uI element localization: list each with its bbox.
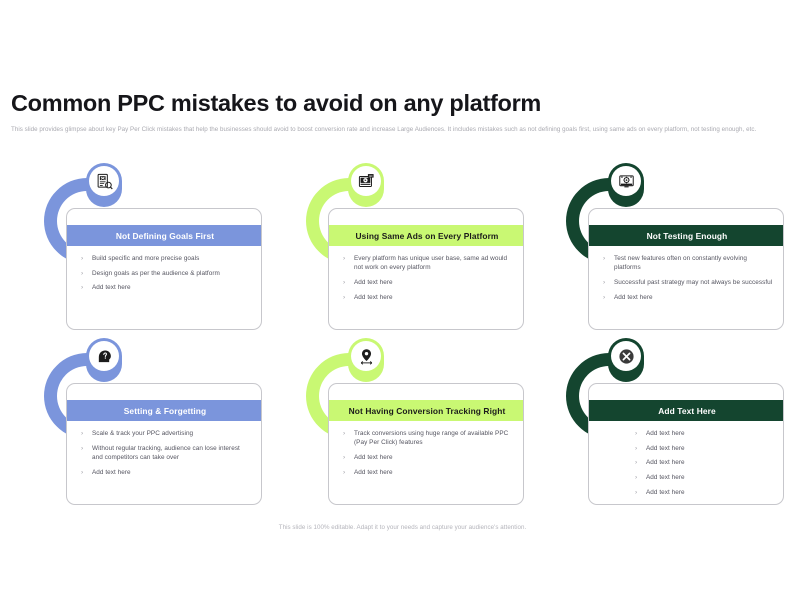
card-1: Not Defining Goals First›Build specific … [38,160,288,335]
bullet-item: ›Add text here [635,429,773,438]
card-panel[interactable]: Add Text Here›Add text here›Add text her… [588,383,784,505]
bullet-text: Add text here [354,468,513,477]
bullet-chevron-icon: › [635,429,646,438]
bullet-chevron-icon: › [343,293,354,302]
page-subtitle: This slide provides glimpse about key Pa… [11,125,794,136]
bullet-text: Design goals as per the audience & platf… [92,269,251,278]
bullet-item: ›Add text here [635,444,773,453]
cards-grid: Not Defining Goals First›Build specific … [0,160,805,510]
bullet-text: Test new features often on constantly ev… [614,254,773,272]
card-title: Setting & Forgetting [67,400,262,421]
card-bullet-list: ›Test new features often on constantly e… [589,250,784,307]
card-icon-badge [86,163,122,207]
bullet-chevron-icon: › [635,458,646,467]
bullet-item: ›Add text here [81,468,251,477]
bullet-text: Add text here [354,293,513,302]
slide-canvas: Common PPC mistakes to avoid on any plat… [0,0,805,605]
bullet-text: Add text here [614,293,773,302]
bullet-chevron-icon: › [635,488,646,497]
bullet-chevron-icon: › [81,444,92,453]
bullet-item: ›Add text here [343,453,513,462]
card-title: Using Same Ads on Every Platform [329,225,524,246]
bullet-chevron-icon: › [81,468,92,477]
card-bullet-list: ›Track conversions using huge range of a… [329,425,524,482]
bullet-chevron-icon: › [343,468,354,477]
card-4: Setting & Forgetting›Scale & track your … [38,335,288,510]
page-title: Common PPC mistakes to avoid on any plat… [11,90,541,117]
card-panel[interactable]: Not Testing Enough›Test new features oft… [588,208,784,330]
bullet-text: Add text here [646,473,773,482]
card-title: Not Defining Goals First [67,225,262,246]
bullet-text: Add text here [646,429,773,438]
bullet-item: ›Scale & track your PPC advertising [81,429,251,438]
bullet-chevron-icon: › [343,278,354,287]
bullet-text: Add text here [646,458,773,467]
bullet-item: ›Add text here [635,488,773,497]
card-3: Not Testing Enough›Test new features oft… [560,160,805,335]
bullet-text: Add text here [92,283,251,292]
bullet-item: ›Add text here [81,283,251,292]
bullet-text: Add text here [354,453,513,462]
bullet-chevron-icon: › [81,283,92,292]
bullet-chevron-icon: › [343,453,354,462]
bullet-chevron-icon: › [343,254,354,263]
bullet-chevron-icon: › [603,293,614,302]
bullet-item: ›Add text here [343,278,513,287]
bullet-item: ›Add text here [635,458,773,467]
bullet-text: Every platform has unique user base, sam… [354,254,513,272]
card-title: Add Text Here [589,400,784,421]
head-question-icon [89,341,119,371]
bullet-item: ›Track conversions using huge range of a… [343,429,513,447]
bullet-chevron-icon: › [81,269,92,278]
card-icon-badge: AD [348,163,384,207]
card-panel[interactable]: Not Defining Goals First›Build specific … [66,208,262,330]
bullet-text: Without regular tracking, audience can l… [92,444,251,462]
bullet-item: ›Build specific and more precise goals [81,254,251,263]
card-panel[interactable]: Using Same Ads on Every Platform›Every p… [328,208,524,330]
footer-note: This slide is 100% editable. Adapt it to… [0,524,805,531]
card-panel[interactable]: Not Having Conversion Tracking Right›Tra… [328,383,524,505]
bullet-text: Add text here [646,444,773,453]
bullet-text: Add text here [646,488,773,497]
bullet-item: ›Every platform has unique user base, sa… [343,254,513,272]
bullet-text: Scale & track your PPC advertising [92,429,251,438]
card-5: Not Having Conversion Tracking Right›Tra… [300,335,550,510]
card-icon-badge [86,338,122,382]
bullet-text: Add text here [92,468,251,477]
bullet-chevron-icon: › [603,278,614,287]
settings-monitor-icon [611,166,641,196]
bullet-chevron-icon: › [81,254,92,263]
card-title: Not Having Conversion Tracking Right [329,400,524,421]
bullet-item: ›Test new features often on constantly e… [603,254,773,272]
bullet-text: Build specific and more precise goals [92,254,251,263]
card-icon-badge [608,338,644,382]
bullet-chevron-icon: › [343,429,354,438]
card-icon-badge [348,338,384,382]
bullet-chevron-icon: › [635,473,646,482]
card-2: ADUsing Same Ads on Every Platform›Every… [300,160,550,335]
location-pin-icon [351,341,381,371]
bullet-item: ›Without regular tracking, audience can … [81,444,251,462]
card-title: Not Testing Enough [589,225,784,246]
card-bullet-list: ›Build specific and more precise goals›D… [67,250,262,298]
bullet-text: Track conversions using huge range of av… [354,429,513,447]
bullet-item: ›Add text here [635,473,773,482]
card-icon-badge [608,163,644,207]
bullet-chevron-icon: › [635,444,646,453]
bullet-item: ›Add text here [603,293,773,302]
bullet-text: Add text here [354,278,513,287]
bullet-text: Successful past strategy may not always … [614,278,773,287]
document-error-icon [89,166,119,196]
bullet-item: ›Successful past strategy may not always… [603,278,773,287]
bullet-chevron-icon: › [81,429,92,438]
bullet-item: ›Design goals as per the audience & plat… [81,269,251,278]
video-ad-icon: AD [351,166,381,196]
card-bullet-list: ›Every platform has unique user base, sa… [329,250,524,307]
bullet-item: ›Add text here [343,293,513,302]
bullet-item: ›Add text here [343,468,513,477]
bullet-chevron-icon: › [603,254,614,263]
card-6: Add Text Here›Add text here›Add text her… [560,335,805,510]
svg-text:AD: AD [368,173,372,177]
card-bullet-list: ›Add text here›Add text here›Add text he… [589,425,784,503]
card-bullet-list: ›Scale & track your PPC advertising›With… [67,425,262,482]
card-panel[interactable]: Setting & Forgetting›Scale & track your … [66,383,262,505]
close-x-icon [611,341,641,371]
